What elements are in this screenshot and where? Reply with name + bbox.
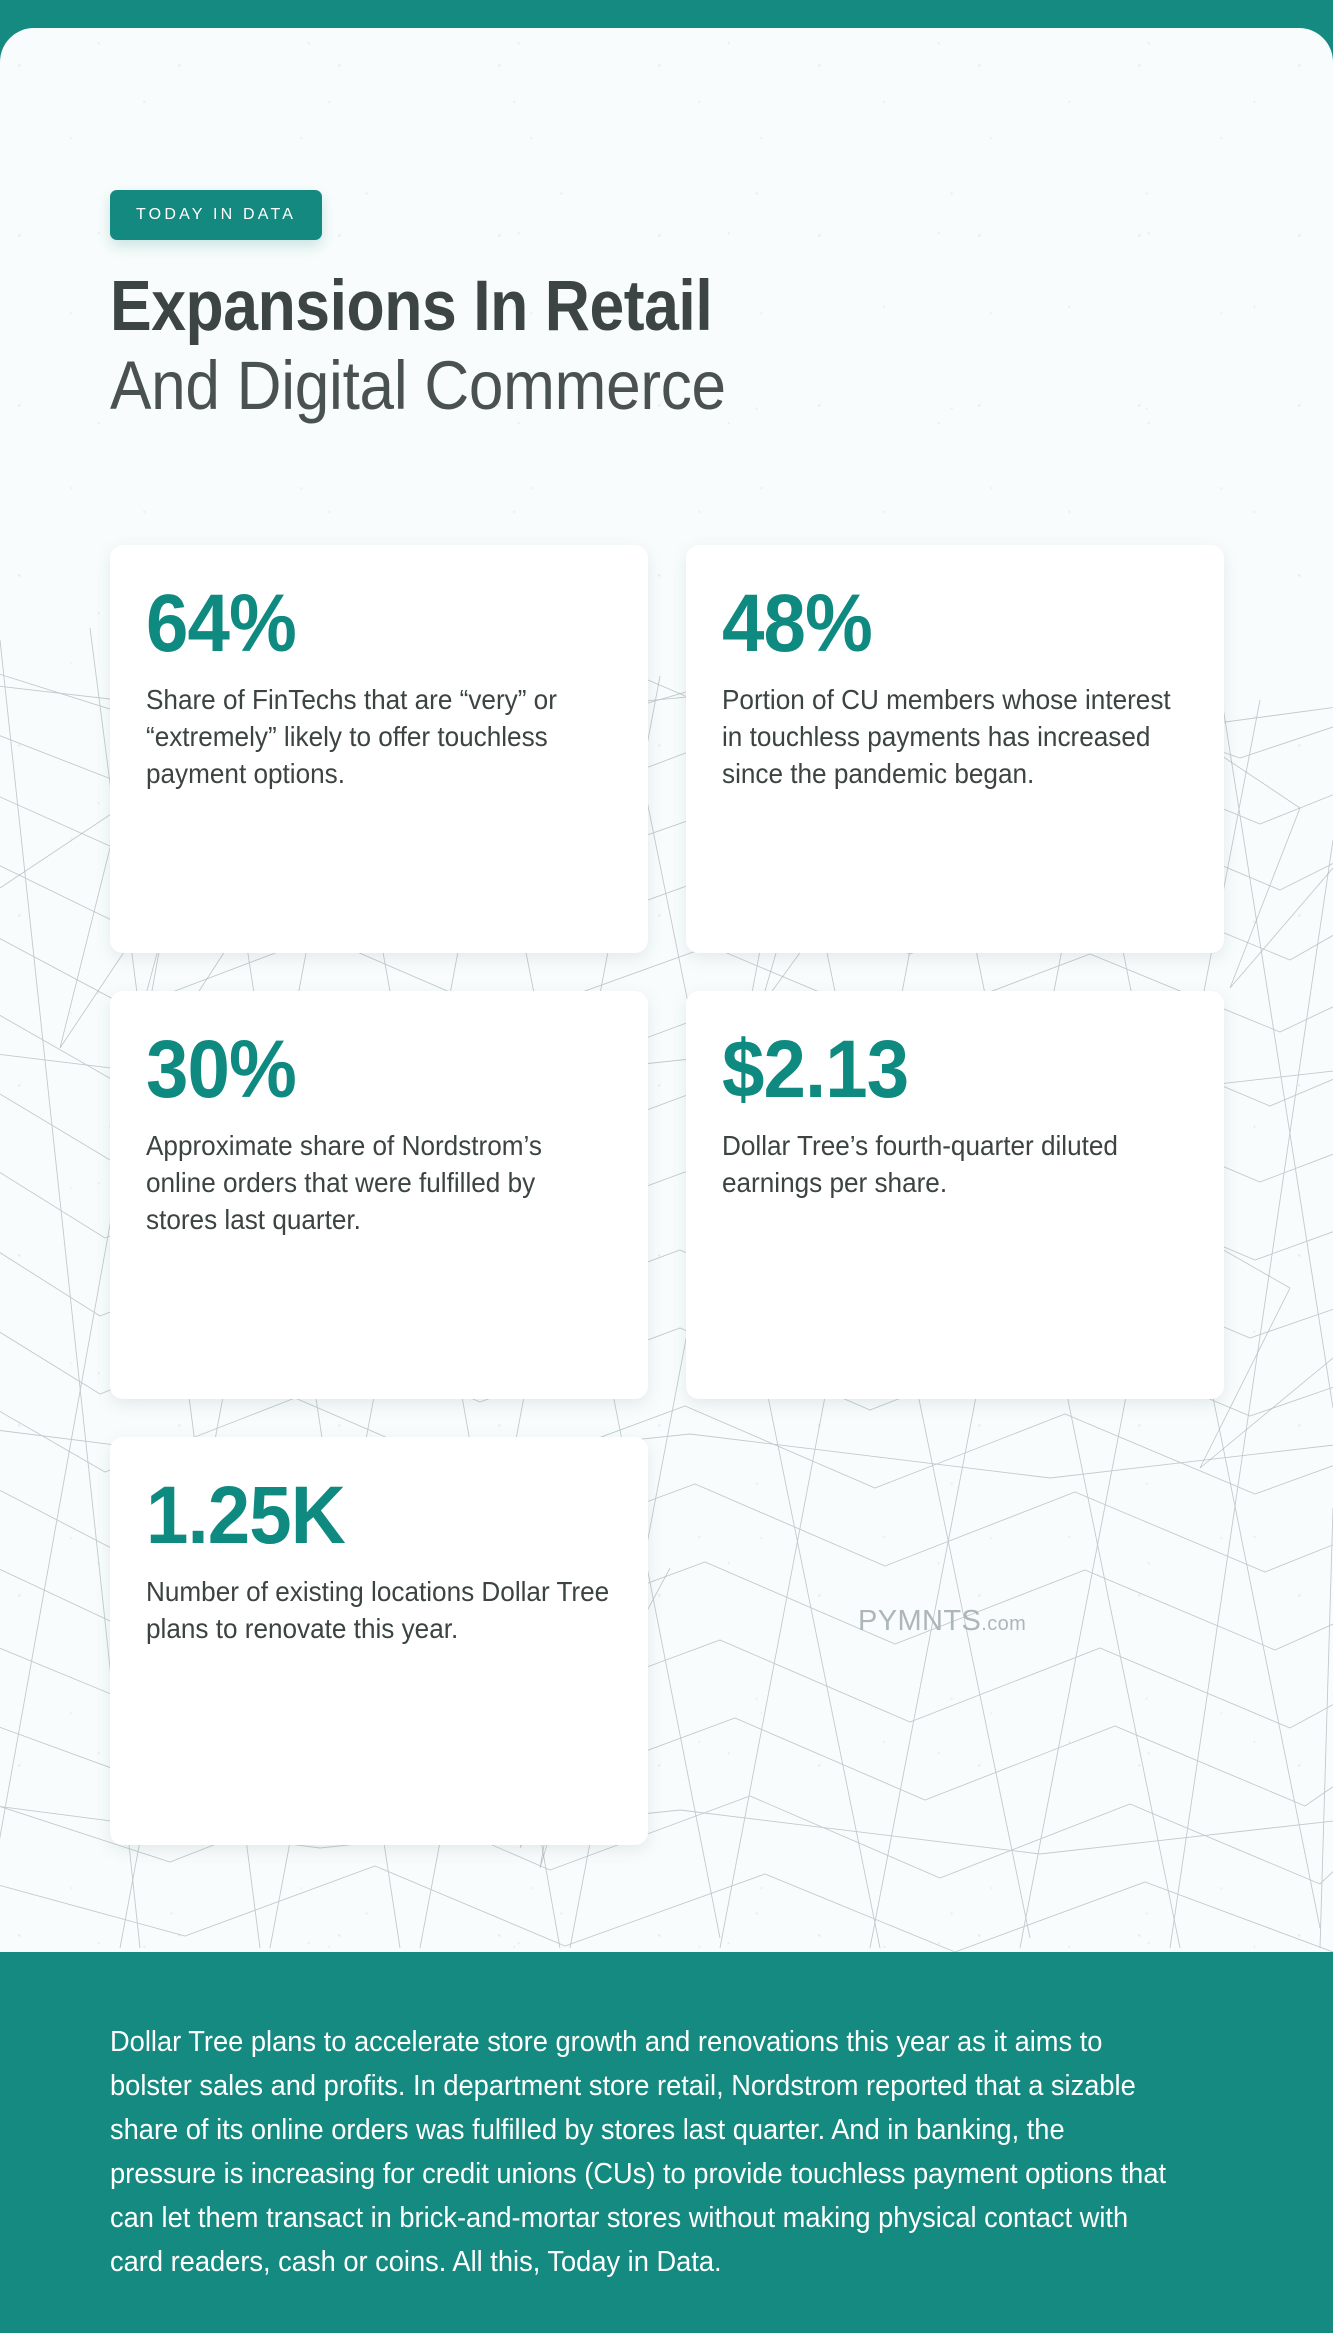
main-panel: TODAY IN DATA Expansions In Retail And D… [0, 28, 1333, 1952]
page-title: Expansions In Retail And Digital Commerc… [110, 268, 1210, 426]
footer-body-text: Dollar Tree plans to accelerate store gr… [110, 2020, 1172, 2284]
stat-card[interactable]: 64% Share of FinTechs that are “very” or… [110, 545, 648, 953]
stat-value: 48% [722, 581, 1155, 667]
today-in-data-badge[interactable]: TODAY IN DATA [110, 190, 322, 240]
stat-description: Portion of CU members whose interest in … [722, 681, 1187, 792]
stat-card-grid: 64% Share of FinTechs that are “very” or… [110, 545, 1225, 1883]
stat-description: Number of existing locations Dollar Tree… [146, 1573, 611, 1647]
stat-card[interactable]: 48% Portion of CU members whose interest… [686, 545, 1224, 953]
stat-card[interactable]: $2.13 Dollar Tree’s fourth-quarter dilut… [686, 991, 1224, 1399]
stat-card[interactable]: 1.25K Number of existing locations Dolla… [110, 1437, 648, 1845]
stat-value: 30% [146, 1027, 579, 1113]
page-title-line-2: And Digital Commerce [110, 346, 1100, 426]
stat-value: $2.13 [722, 1027, 1155, 1113]
watermark-name: PYMNTS [858, 1605, 981, 1637]
stat-card-row-1: 64% Share of FinTechs that are “very” or… [110, 545, 1225, 953]
infographic-page: TODAY IN DATA Expansions In Retail And D… [0, 0, 1333, 2333]
stat-card[interactable]: 30% Approximate share of Nordstrom’s onl… [110, 991, 648, 1399]
stat-description: Dollar Tree’s fourth-quarter diluted ear… [722, 1127, 1187, 1201]
watermark-suffix: .com [981, 1613, 1026, 1635]
stat-value: 64% [146, 581, 579, 667]
footer-summary-panel: Dollar Tree plans to accelerate store gr… [0, 1952, 1333, 2333]
stat-description: Share of FinTechs that are “very” or “ex… [146, 681, 611, 792]
stat-card-row-3: 1.25K Number of existing locations Dolla… [110, 1437, 1225, 1845]
page-title-line-1: Expansions In Retail [110, 268, 1078, 346]
stat-card-row-2: 30% Approximate share of Nordstrom’s onl… [110, 991, 1225, 1399]
badge-label: TODAY IN DATA [136, 206, 296, 224]
stat-description: Approximate share of Nordstrom’s online … [146, 1127, 611, 1238]
pymnts-watermark: PYMNTS.com [858, 1605, 1026, 1638]
stat-value: 1.25K [146, 1473, 579, 1559]
